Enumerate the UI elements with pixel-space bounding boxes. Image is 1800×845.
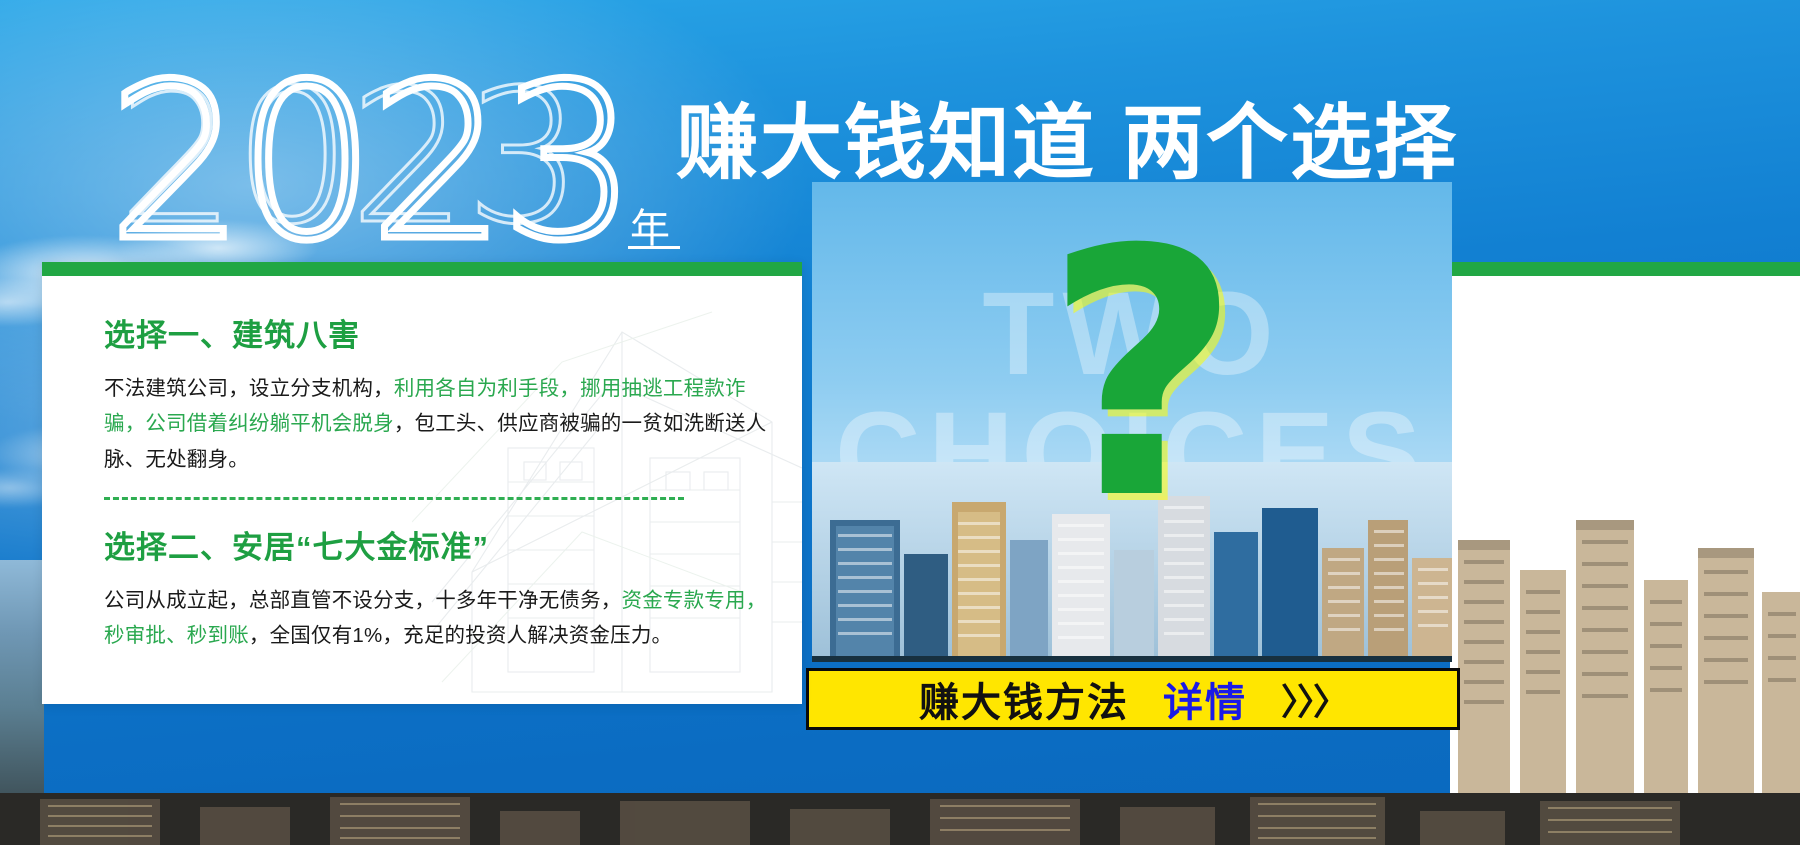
card-top-green-bar <box>42 262 802 276</box>
section-one-body: 不法建筑公司，设立分支机构，利用各自为利手段，挪用抽逃工程款诈骗，公司借着纠纷躺… <box>104 371 776 477</box>
cta-detail-link[interactable]: 详情 <box>1163 670 1247 728</box>
chevron-right-icon: 〉〉〉 <box>1281 673 1347 725</box>
content-card: 选择一、建筑八害 不法建筑公司，设立分支机构，利用各自为利手段，挪用抽逃工程款诈… <box>42 262 802 704</box>
question-mark-icon: ? <box>1044 206 1241 546</box>
section-divider <box>104 497 684 500</box>
poster-stage: 2023 2023 年 赚大钱知道两个选择 TWO CHOICES <box>0 0 1800 845</box>
right-edge-photo <box>1450 420 1800 805</box>
bottom-photo-strip <box>0 793 1800 845</box>
section-two: 选择二、安居“七大金标准” 公司从成立起，总部直管不设分支，十多年干净无债务，资… <box>104 522 776 654</box>
left-edge-photo <box>0 560 44 805</box>
year-suffix-underline <box>628 246 680 249</box>
skyline-right-svg <box>1450 420 1800 805</box>
bottom-strip-svg <box>0 793 1800 845</box>
run-black-3: 公司从成立起，总部直管不设分支，十多年干净无债务， <box>104 589 622 612</box>
headline-part1: 赚大钱知道 <box>676 98 1096 189</box>
section-one: 选择一、建筑八害 不法建筑公司，设立分支机构，利用各自为利手段，挪用抽逃工程款诈… <box>104 310 776 477</box>
headline-part2: 两个选择 <box>1122 98 1458 189</box>
card-content: 选择一、建筑八害 不法建筑公司，设立分支机构，利用各自为利手段，挪用抽逃工程款诈… <box>104 310 776 653</box>
run-black-4: ，全国仅有1%，充足的投资人解决资金压力。 <box>249 624 672 647</box>
section-two-body: 公司从成立起，总部直管不设分支，十多年干净无债务，资金专款专用，秒审批、秒到账，… <box>104 583 776 654</box>
section-two-title: 选择二、安居“七大金标准” <box>104 522 776 567</box>
cta-main-label: 赚大钱方法 <box>919 670 1129 728</box>
year-number: 2023 <box>108 64 631 262</box>
right-green-bar <box>1450 262 1800 276</box>
choices-panel: TWO CHOICES <box>812 182 1452 662</box>
cta-banner[interactable]: 赚大钱方法 详情 〉〉〉 <box>806 668 1460 730</box>
year-badge: 2023 <box>108 62 631 262</box>
page-title: 赚大钱知道两个选择 <box>676 76 1458 195</box>
section-one-title: 选择一、建筑八害 <box>104 310 776 355</box>
run-black-1: 不法建筑公司，设立分支机构， <box>104 377 394 400</box>
